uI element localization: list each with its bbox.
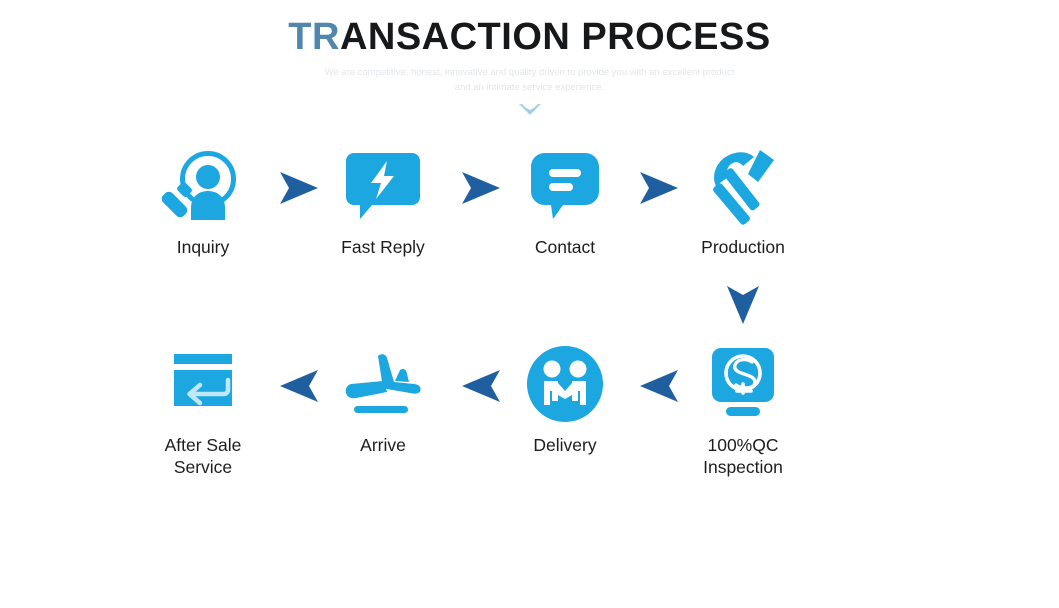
arrow-down-icon: [723, 282, 763, 328]
icon-container: [128, 140, 278, 232]
page-title-accent: TR: [288, 16, 340, 58]
process-step-delivery[interactable]: Delivery: [490, 338, 640, 456]
process-step-after-sale-service[interactable]: After Sale Service: [128, 338, 278, 479]
page-title: TRANSACTION PROCESS: [0, 18, 1059, 58]
speech-bubble-lines-icon: [525, 147, 605, 225]
process-step-contact[interactable]: Contact: [490, 140, 640, 258]
process-flow: Inquiry Fast Reply: [128, 140, 888, 488]
process-step-inquiry[interactable]: Inquiry: [128, 140, 278, 258]
handshake-circle-icon: [524, 343, 606, 425]
icon-container: [308, 338, 458, 430]
icon-container: [490, 338, 640, 430]
magnifier-person-icon: [160, 146, 246, 226]
process-step-qc-inspection[interactable]: 100%QC Inspection: [668, 338, 818, 479]
airplane-landing-icon: [338, 348, 428, 420]
icon-container: [128, 338, 278, 430]
page-subtitle: We are competitive, honest, innovative a…: [322, 66, 737, 95]
process-step-arrive[interactable]: Arrive: [308, 338, 458, 456]
page-header: TRANSACTION PROCESS We are competitive, …: [0, 18, 1059, 118]
hammer-screwdriver-icon: [698, 144, 788, 228]
qc-monitor-icon: [704, 344, 782, 424]
process-step-production[interactable]: Production: [668, 140, 818, 258]
process-step-fast-reply[interactable]: Fast Reply: [308, 140, 458, 258]
card-return-arrow-icon: [162, 346, 244, 422]
icon-container: [308, 140, 458, 232]
chevron-down-icon: [517, 102, 543, 118]
process-step-label: Inquiry: [128, 236, 278, 258]
icon-container: [668, 338, 818, 430]
icon-container: [668, 140, 818, 232]
process-step-label: Arrive: [308, 434, 458, 456]
process-step-label: 100%QC Inspection: [668, 434, 818, 479]
process-step-label: Production: [668, 236, 818, 258]
process-step-label: Delivery: [490, 434, 640, 456]
process-step-label: Contact: [490, 236, 640, 258]
page-title-rest: ANSACTION PROCESS: [340, 16, 771, 58]
process-step-label: Fast Reply: [308, 236, 458, 258]
speech-bubble-lightning-icon: [342, 147, 424, 225]
icon-container: [490, 140, 640, 232]
process-step-label: After Sale Service: [128, 434, 278, 479]
process-row-2: After Sale Service Arrive: [128, 338, 888, 488]
process-row-1: Inquiry Fast Reply: [128, 140, 888, 290]
